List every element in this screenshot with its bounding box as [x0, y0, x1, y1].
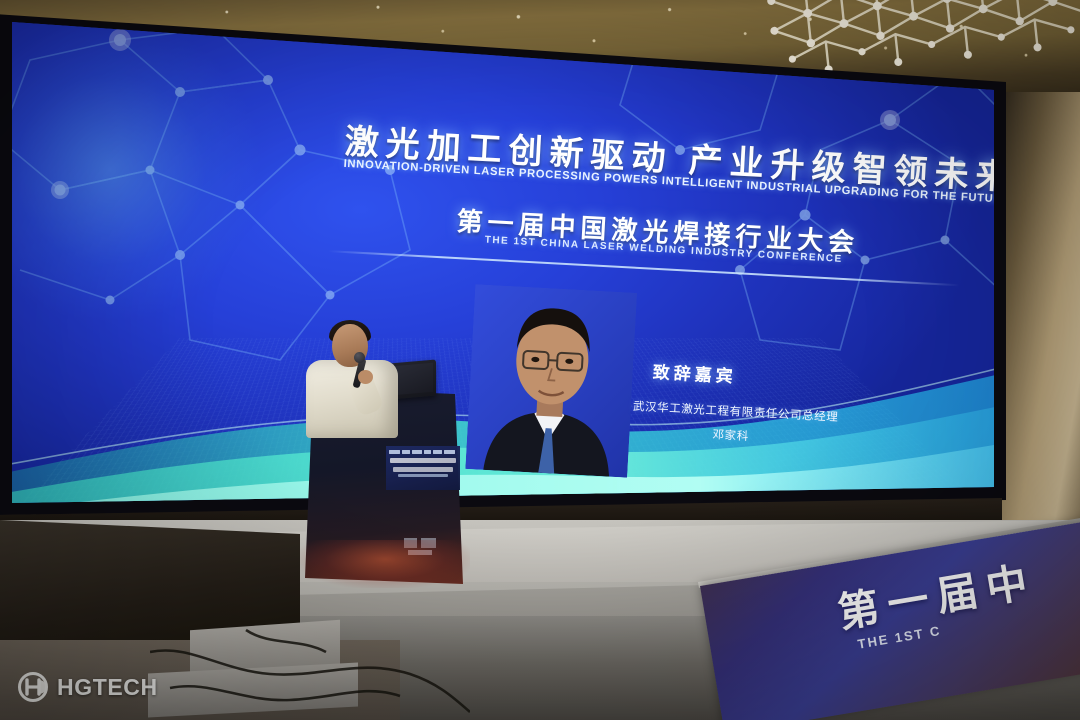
conference-stage-photo: 激光加工创新驱动 产业升级智领未来 INNOVATION-DRIVEN LASE… — [0, 0, 1080, 720]
podium-branding-panel — [386, 446, 460, 490]
side-wall-panel — [998, 92, 1080, 564]
podium-base-light — [300, 540, 470, 588]
speaker-organization: 武汉华工激光工程有限责任公司总经理 — [633, 398, 839, 425]
sponsor-logo-4-icon — [424, 450, 431, 454]
sponsor-logo-5-icon — [433, 450, 442, 454]
sponsor-logo-3-icon — [412, 450, 422, 454]
sponsor-logo-1-icon — [389, 450, 400, 454]
podium-panel-subtitle-line — [393, 467, 453, 472]
speaker-name: 邓家科 — [712, 426, 749, 444]
speaker-hand — [358, 370, 373, 384]
podium-sponsor-logo-strip — [389, 449, 457, 454]
speaker-portrait-photo — [465, 284, 637, 477]
watermark: HGTECH — [18, 672, 158, 702]
speaker-role-label: 致辞嘉宾 — [652, 358, 737, 388]
watermark-brand-text: HGTECH — [57, 674, 158, 701]
floor-cables-icon — [150, 600, 470, 720]
podium-panel-caption-line — [398, 474, 448, 477]
title-divider — [328, 250, 959, 286]
hgtech-circle-h-logo-icon — [18, 672, 48, 702]
sponsor-logo-6-icon — [444, 450, 455, 454]
speaker-person — [300, 318, 410, 448]
microphone-head-icon — [354, 352, 365, 363]
podium-panel-title-line — [390, 458, 456, 463]
sponsor-logo-2-icon — [402, 450, 410, 454]
